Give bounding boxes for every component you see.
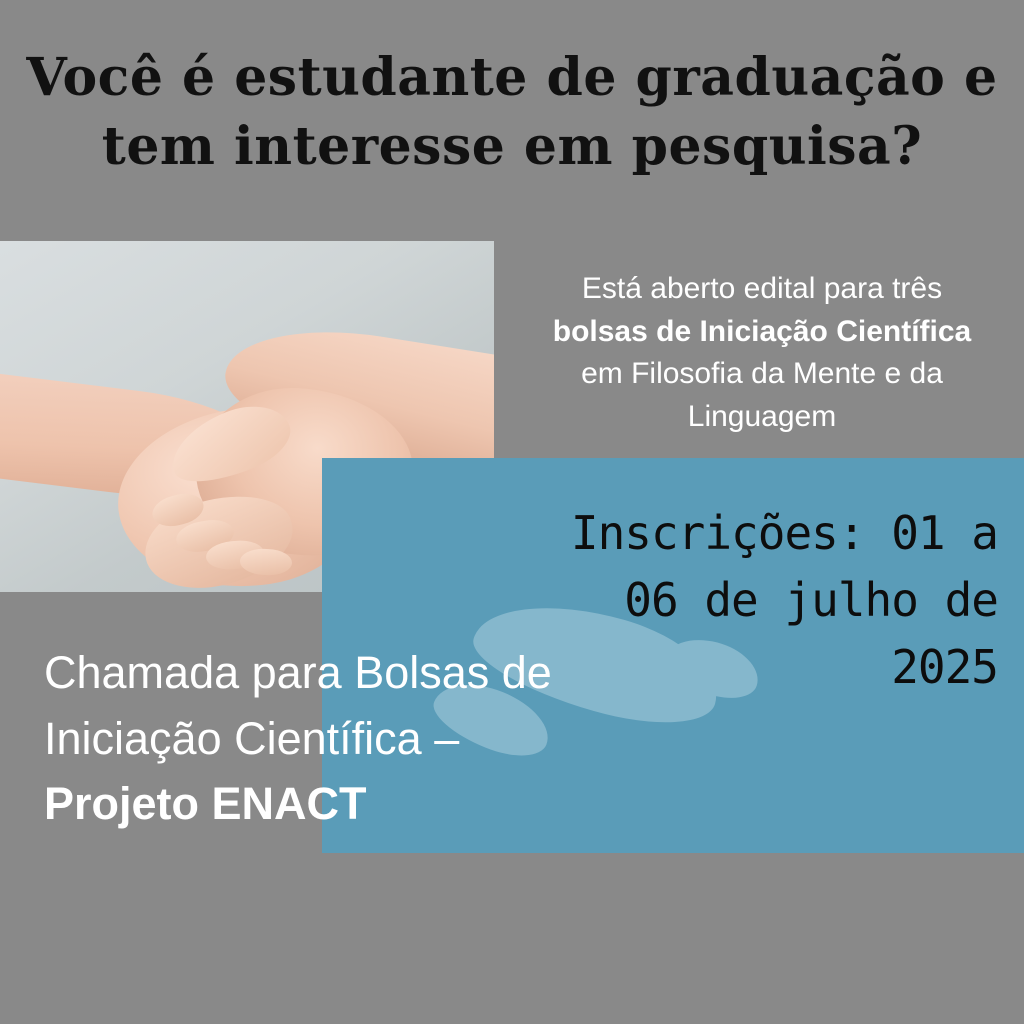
call-title-line-3: Projeto ENACT [44,771,684,837]
description-block: Está aberto edital para três bolsas de I… [512,268,1012,438]
description-line-2-bold: bolsas de Iniciação Científica [553,315,971,348]
headline-line-2: tem interesse em pesquisa? [0,113,1024,182]
poster-canvas: Você é estudante de graduação e tem inte… [0,0,1024,1024]
description-line-3: em Filosofia da Mente e da [512,353,1012,396]
call-title: Chamada para Bolsas de Iniciação Científ… [44,640,684,837]
registration-line-2: 06 de julho de [470,567,998,634]
description-line-1: Está aberto edital para três [512,268,1012,311]
call-title-line-1: Chamada para Bolsas de [44,640,684,706]
call-title-line-2: Iniciação Científica – [44,706,684,772]
page-title: Você é estudante de graduação e tem inte… [0,44,1024,181]
headline-line-1: Você é estudante de graduação e [26,47,997,108]
description-line-4: Linguagem [512,396,1012,439]
logo-bar: C&L [0,884,1024,1024]
registration-line-1: Inscrições: 01 a [470,500,998,567]
